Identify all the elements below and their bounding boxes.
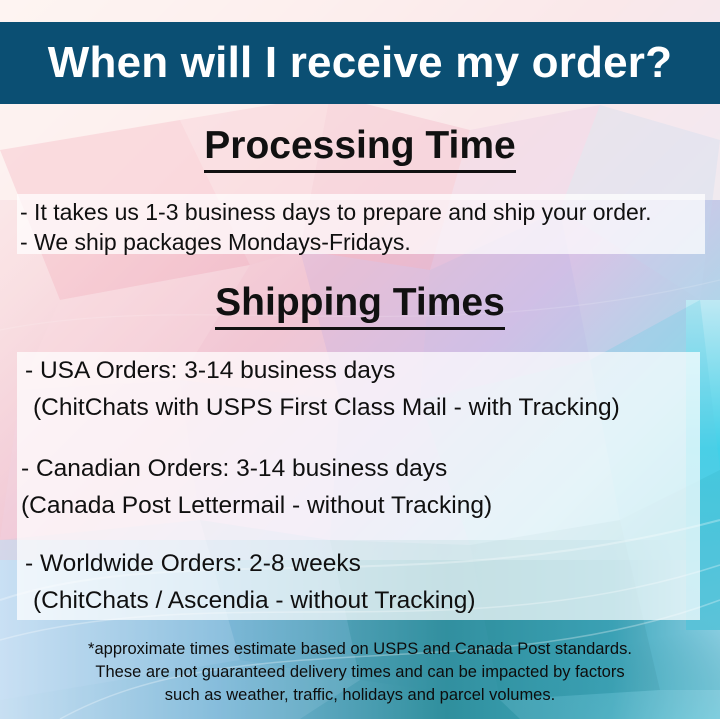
page-title: When will I receive my order? — [48, 41, 672, 85]
section-heading-processing-time-text: Processing Time — [204, 124, 515, 173]
section-heading-processing-time: Processing Time — [0, 126, 720, 165]
header-bar: When will I receive my order? — [0, 22, 720, 104]
section-heading-shipping-times: Shipping Times — [0, 283, 720, 322]
processing-line-2: - We ship packages Mondays-Fridays. — [20, 227, 652, 257]
footnote-line-1: *approximate times estimate based on USP… — [0, 638, 720, 661]
faq-shipping-graphic: When will I receive my order? Processing… — [0, 0, 720, 719]
shipping-canada-title: - Canadian Orders: 3-14 business days — [21, 450, 492, 487]
shipping-group-worldwide: - Worldwide Orders: 2-8 weeks (ChitChats… — [25, 545, 476, 619]
shipping-canada-detail: (Canada Post Lettermail - without Tracki… — [21, 487, 492, 524]
shipping-group-canada: - Canadian Orders: 3-14 business days (C… — [21, 450, 492, 524]
section-heading-shipping-times-text: Shipping Times — [215, 281, 505, 330]
shipping-worldwide-title: - Worldwide Orders: 2-8 weeks — [25, 545, 476, 582]
processing-time-lines: - It takes us 1-3 business days to prepa… — [20, 197, 652, 257]
shipping-usa-title: - USA Orders: 3-14 business days — [25, 352, 620, 389]
shipping-worldwide-detail: (ChitChats / Ascendia - without Tracking… — [25, 582, 476, 619]
shipping-usa-detail: (ChitChats with USPS First Class Mail - … — [25, 389, 620, 426]
shipping-group-usa: - USA Orders: 3-14 business days (ChitCh… — [25, 352, 620, 426]
processing-line-1: - It takes us 1-3 business days to prepa… — [20, 197, 652, 227]
footnote-line-2: These are not guaranteed delivery times … — [0, 661, 720, 684]
footnote-line-3: such as weather, traffic, holidays and p… — [0, 684, 720, 707]
footnote: *approximate times estimate based on USP… — [0, 638, 720, 707]
